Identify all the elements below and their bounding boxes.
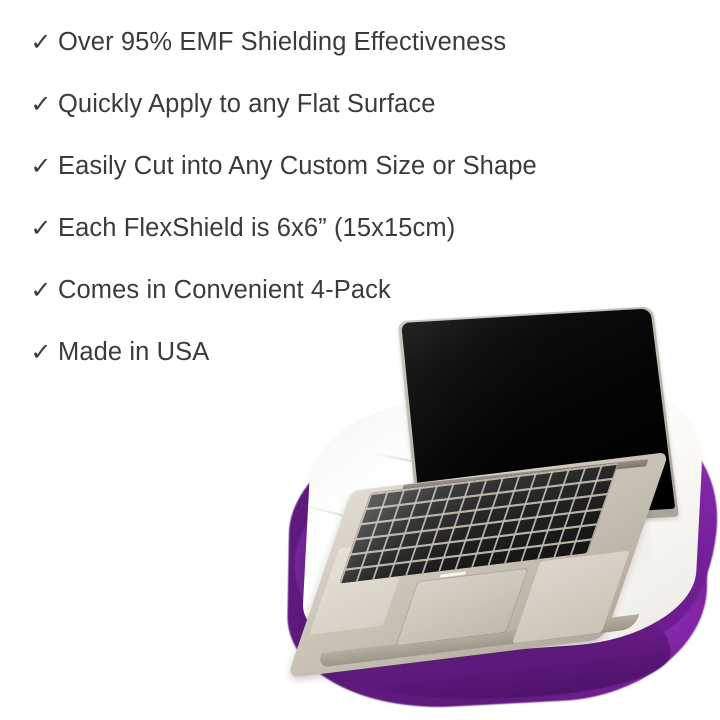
feature-item-label: Quickly Apply to any Flat Surface: [58, 92, 435, 118]
feature-item-label: Easily Cut into Any Custom Size or Shape: [58, 154, 537, 180]
product-feature-graphic: ✓ Over 95% EMF Shielding Effectiveness ✓…: [0, 0, 720, 720]
feature-item-2: ✓ Quickly Apply to any Flat Surface: [0, 92, 600, 154]
check-icon: ✓: [30, 340, 58, 364]
check-icon: ✓: [30, 30, 58, 54]
feature-item-4: ✓ Each FlexShield is 6x6” (15x15cm): [0, 216, 600, 278]
check-icon: ✓: [30, 154, 58, 178]
feature-item-label: Comes in Convenient 4-Pack: [58, 278, 391, 304]
check-icon: ✓: [30, 92, 58, 116]
check-icon: ✓: [30, 278, 58, 302]
feature-item-3: ✓ Easily Cut into Any Custom Size or Sha…: [0, 154, 600, 216]
feature-item-label: Over 95% EMF Shielding Effectiveness: [58, 30, 506, 56]
feature-list: ✓ Over 95% EMF Shielding Effectiveness ✓…: [0, 0, 600, 402]
check-icon: ✓: [30, 216, 58, 240]
feature-item-label: Each FlexShield is 6x6” (15x15cm): [58, 216, 455, 242]
feature-item-1: ✓ Over 95% EMF Shielding Effectiveness: [0, 30, 600, 92]
feature-item-5: ✓ Comes in Convenient 4-Pack: [0, 278, 600, 340]
feature-item-6: ✓ Made in USA: [0, 340, 600, 402]
feature-item-label: Made in USA: [58, 340, 209, 366]
